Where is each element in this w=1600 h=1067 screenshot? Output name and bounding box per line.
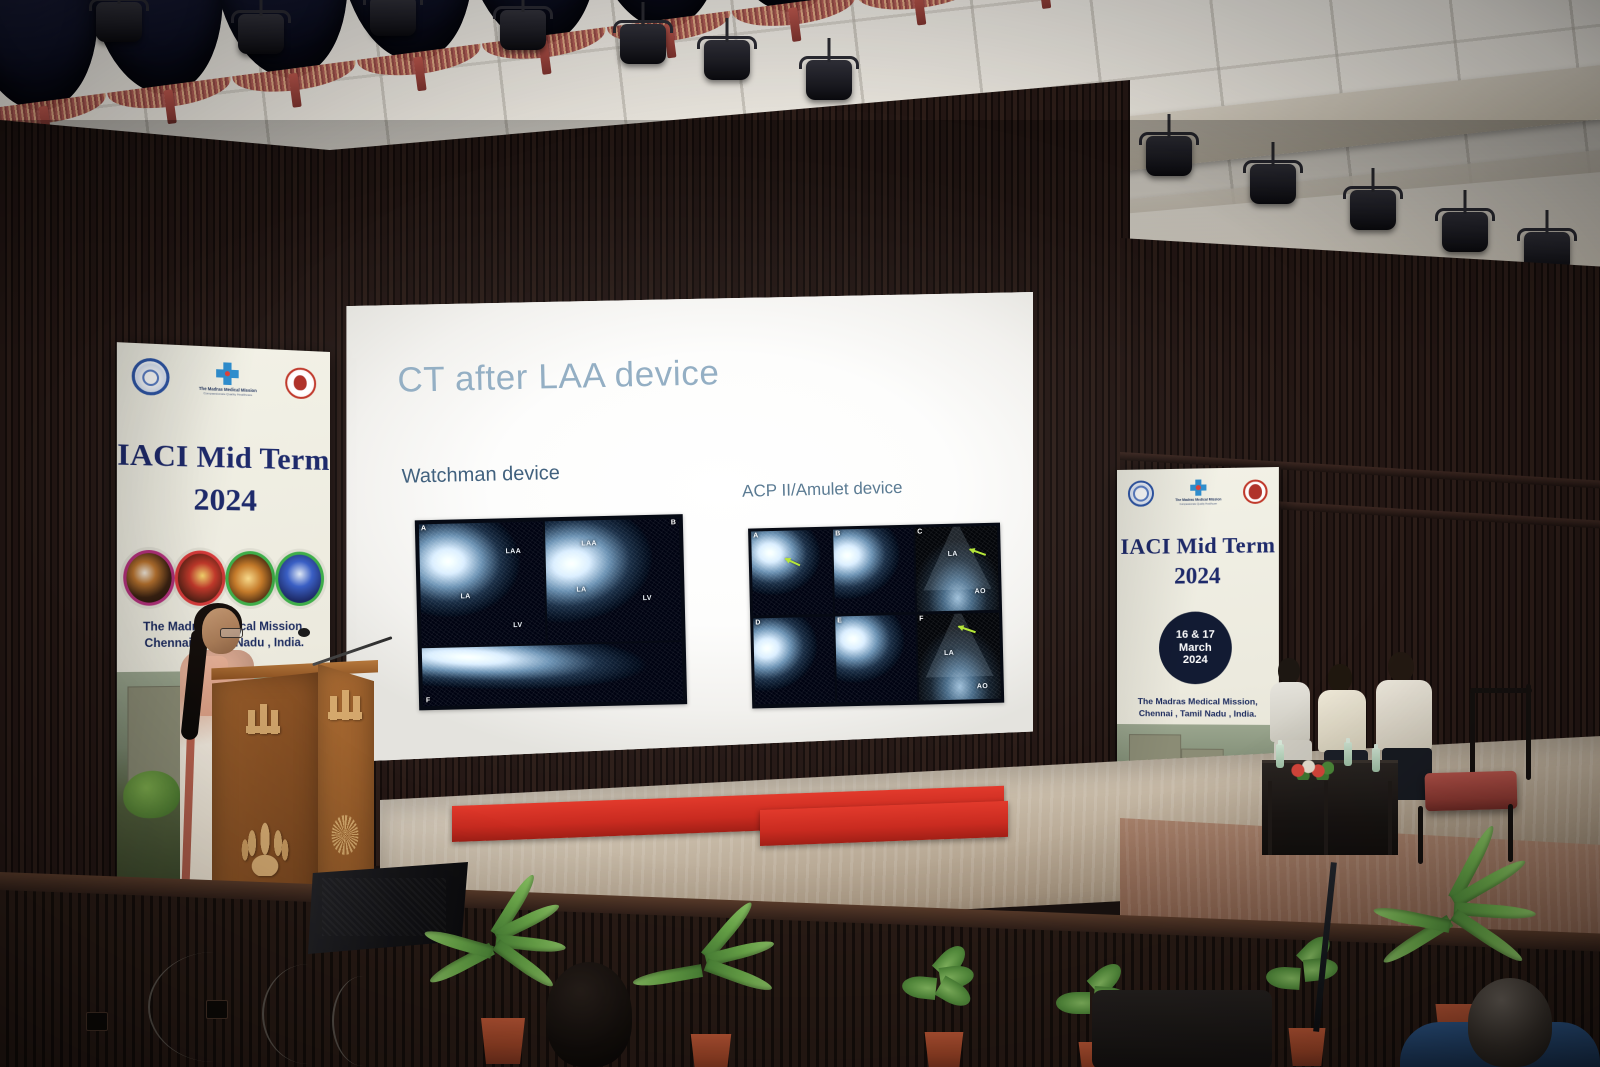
slide-title: CT after LAA device: [397, 353, 720, 401]
echo-tile-c: C LA AO: [915, 526, 999, 612]
power-outlet-icon: [86, 1012, 108, 1031]
potted-plant: [1270, 932, 1390, 1067]
ct-tile-a: A LAA LA LV: [419, 521, 546, 646]
stage-light-icon: [96, 2, 142, 42]
potted-plant: [900, 938, 1040, 1067]
stage-light-icon: [620, 24, 666, 64]
microphone-icon: [298, 628, 310, 637]
collage-photo: [175, 550, 226, 606]
flower-arrangement: [1290, 756, 1334, 780]
banner-right-venue-line2: Chennai , Tamil Nadu , India.: [1117, 708, 1279, 720]
panelist-head: [1278, 658, 1300, 684]
glasses-icon: [220, 628, 243, 638]
terracotta-pot: [688, 1034, 734, 1067]
madras-medical-mission-logo-icon: [217, 363, 240, 386]
date-line-2: March: [1179, 641, 1212, 654]
audio-cable: [332, 976, 394, 1066]
slide-subheading-watchman: Watchman device: [401, 462, 560, 489]
chair-backrest-top: [1470, 688, 1532, 693]
ct-tile-f: F: [422, 642, 683, 706]
audio-cable: [148, 952, 280, 1062]
slide-subheading-amulet: ACP II/Amulet device: [742, 478, 903, 502]
date-line-3: 2024: [1183, 654, 1208, 667]
panelist-torso: [1376, 680, 1432, 750]
banner-left-year: 2024: [117, 479, 330, 520]
ct-tile-b: B: [833, 528, 915, 614]
banner-right-year: 2024: [1117, 562, 1279, 590]
acp-amulet-ct-figure: A B C LA AO: [748, 523, 1004, 709]
chair-backrest: [1470, 690, 1475, 782]
event-date-badge: 16 & 17 March 2024: [1159, 611, 1232, 684]
collage-photo: [123, 550, 175, 606]
trident-carving-icon: [246, 704, 280, 734]
audience-member-right: [1468, 978, 1552, 1067]
terracotta-pot: [1286, 1028, 1328, 1066]
filigree-carving-icon: [324, 804, 366, 866]
conference-stage-photo: CT after LAA device Watchman device ACP …: [0, 0, 1600, 1067]
hospital-logo-icon: [1128, 480, 1154, 506]
lotus-carving-icon: [238, 814, 292, 876]
banner-right-logo-tagline: Compassionate Quality Healthcare: [1180, 502, 1217, 506]
banner-left-title: IACI Mid Term: [117, 440, 330, 477]
stage-light-icon: [806, 60, 852, 100]
foreground-equipment-case: [1092, 990, 1272, 1067]
date-line-1: 16 & 17: [1176, 628, 1215, 641]
chair-backrest: [1526, 684, 1531, 780]
stage-light-icon: [238, 14, 284, 54]
hospital-logo-icon: [132, 357, 170, 396]
water-bottle: [1372, 748, 1380, 772]
iaci-logo-icon: [1243, 479, 1268, 504]
collage-photo: [275, 551, 324, 606]
ct-tile-d: D: [753, 617, 835, 705]
panelist-head: [1388, 652, 1414, 682]
chair-leg: [1418, 806, 1423, 864]
echo-tile-f: F LA AO: [917, 613, 1001, 701]
audience-member-center: [546, 962, 632, 1067]
ct-tile-b: B LAA LA LV: [545, 518, 682, 643]
banner-right-venue-line1: The Madras Medical Mission,: [1117, 696, 1279, 708]
collage-photo: [225, 551, 275, 606]
iaci-logo-icon: [285, 367, 316, 399]
stage-light-icon: [500, 10, 546, 50]
projection-screen: CT after LAA device Watchman device ACP …: [343, 292, 1033, 762]
water-bottle: [1344, 742, 1352, 766]
panelist-torso: [1318, 690, 1366, 752]
madras-medical-mission-logo-icon: [1190, 480, 1206, 496]
banner-left-logo-tagline: Compassionate Quality Healthcare: [203, 392, 252, 398]
red-cushioned-chair: [1425, 771, 1518, 811]
terracotta-pot: [922, 1032, 966, 1067]
stage-light-icon: [1442, 212, 1488, 252]
potted-palm: [668, 930, 818, 1067]
panelist-torso: [1270, 682, 1310, 742]
panelist-head: [1328, 664, 1352, 692]
water-bottle: [1276, 744, 1284, 768]
chair-leg: [1508, 804, 1513, 862]
stage-light-icon: [370, 0, 416, 36]
stage-light-icon: [704, 40, 750, 80]
stage-light-icon: [1350, 190, 1396, 230]
speaker-grille: [322, 878, 446, 936]
terracotta-pot: [478, 1018, 528, 1064]
trident-carving-icon: [328, 690, 362, 720]
presentation-slide: CT after LAA device Watchman device ACP …: [338, 284, 1039, 770]
stage-light-icon: [1250, 164, 1296, 204]
ct-tile-a: A: [751, 530, 833, 616]
ct-tile-e: E: [835, 615, 917, 703]
watchman-ct-figure: A LAA LA LV B LAA LA LV F: [415, 514, 687, 710]
banner-right-title: IACI Mid Term: [1117, 534, 1279, 558]
stage-light-icon: [1146, 136, 1192, 176]
